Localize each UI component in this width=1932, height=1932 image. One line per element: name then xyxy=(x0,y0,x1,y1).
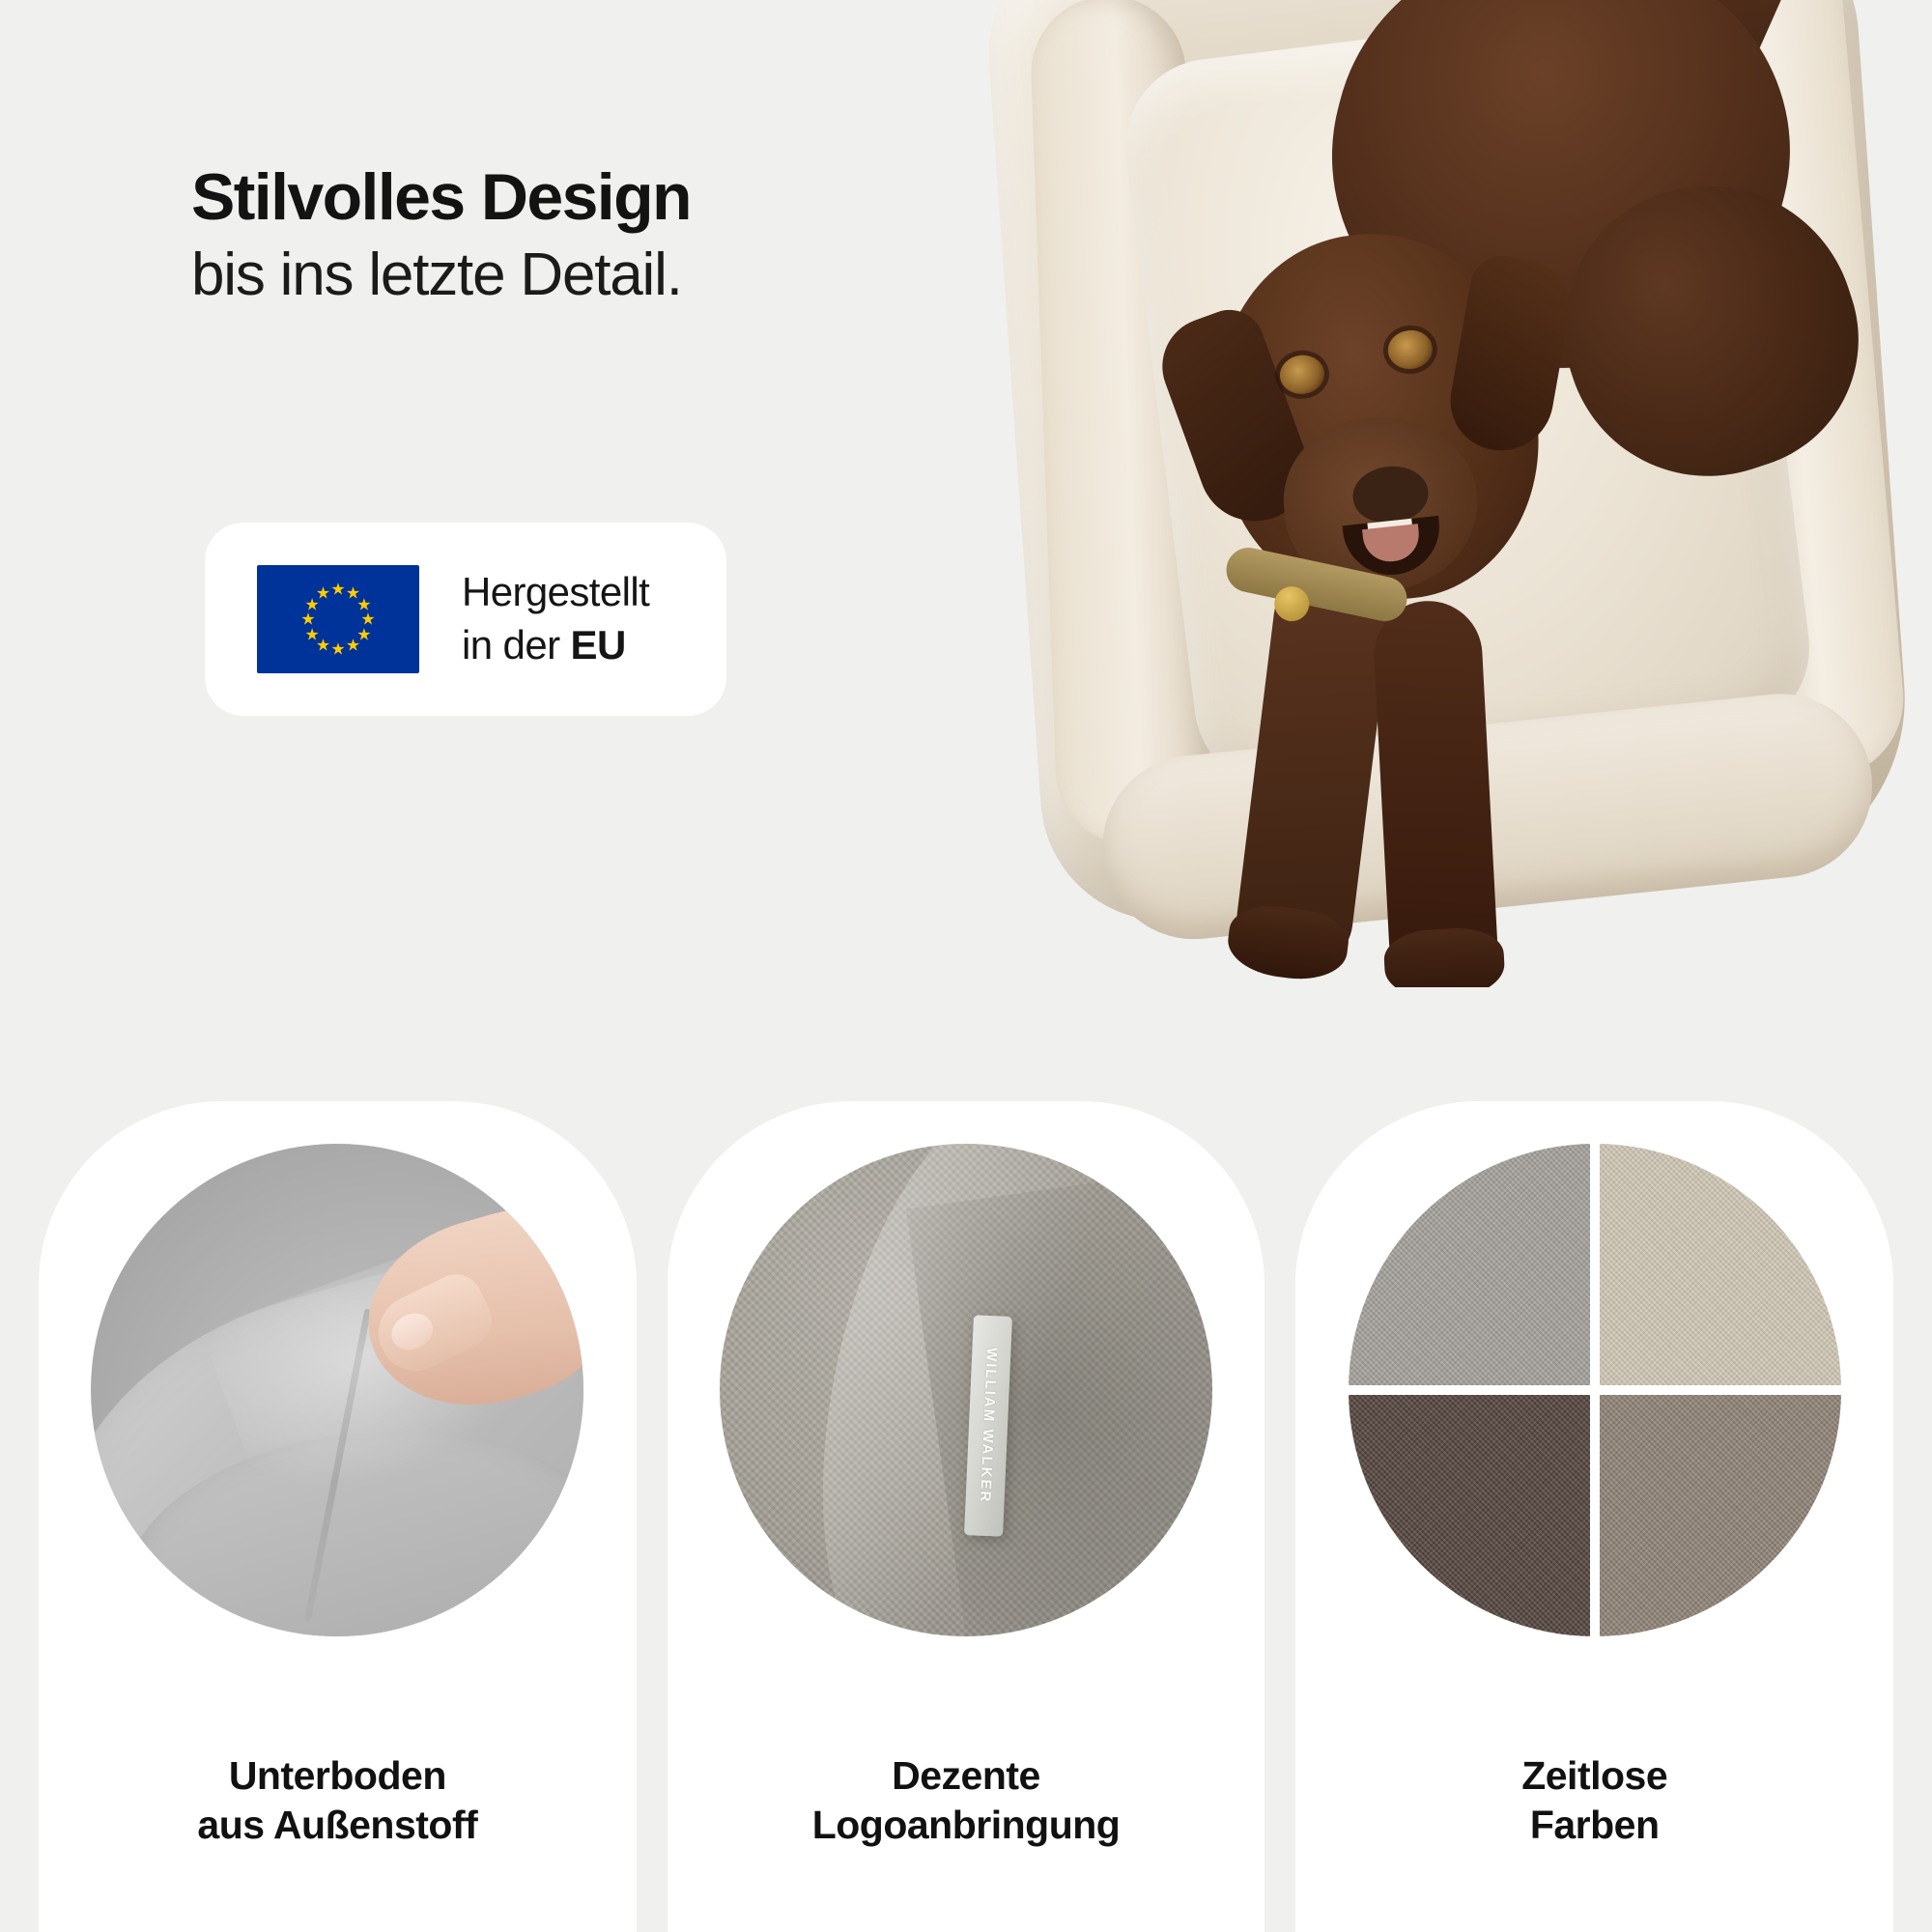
headline-block: Stilvolles Design bis ins letzte Detail. xyxy=(191,162,925,310)
card-caption: Zeitlose Farben xyxy=(1295,1751,1893,1851)
eu-flag-icon: ★★★★★★★★★★★★ xyxy=(257,565,419,673)
dog-eye-right xyxy=(1386,328,1435,372)
eu-star-icon: ★ xyxy=(300,611,315,628)
card-caption-line-1: Zeitlose xyxy=(1295,1751,1893,1802)
dog-in-bed-photo xyxy=(966,0,1932,987)
card-caption: Dezente Logoanbringung xyxy=(668,1751,1265,1851)
eu-star-icon: ★ xyxy=(305,626,320,642)
dog-front-leg-left xyxy=(1232,556,1396,973)
dog-eye-left xyxy=(1278,354,1326,397)
badge-line-2-bold: EU xyxy=(571,622,626,668)
feature-card-logo[interactable]: WILLIAM WALKER Dezente Logoanbringung xyxy=(668,1101,1265,1932)
badge-line-2: in der EU xyxy=(462,619,649,672)
swatch-light-grey xyxy=(1349,1144,1590,1385)
eu-star-icon: ★ xyxy=(346,637,360,653)
dog-ear-right xyxy=(1442,251,1577,459)
fleece-fabric xyxy=(91,1144,583,1636)
dog-tongue xyxy=(1362,524,1421,564)
feature-card-colors[interactable]: Zeitlose Farben xyxy=(1295,1101,1893,1932)
badge-line-2-prefix: in der xyxy=(462,622,571,668)
card-caption-line-1: Dezente xyxy=(668,1751,1265,1802)
card-caption-line-2: Logoanbringung xyxy=(668,1801,1265,1851)
eu-star-icon: ★ xyxy=(330,582,345,598)
dog-paw-right xyxy=(1382,926,1506,987)
page-subtitle: bis ins letzte Detail. xyxy=(191,240,925,310)
swatch-dark-brown xyxy=(1349,1395,1590,1636)
made-in-eu-label: Hergestellt in der EU xyxy=(462,566,649,671)
badge-line-1: Hergestellt xyxy=(462,566,649,619)
page-title: Stilvolles Design xyxy=(191,162,925,232)
finger xyxy=(366,1265,501,1383)
card-caption: Unterboden aus Außenstoff xyxy=(39,1751,637,1851)
fleece-underside-photo xyxy=(91,1144,583,1636)
swatch-sand-beige xyxy=(1600,1144,1841,1385)
feature-card-underside[interactable]: Unterboden aus Außenstoff xyxy=(39,1101,637,1932)
card-caption-line-1: Unterboden xyxy=(39,1751,637,1802)
logo-label-photo: WILLIAM WALKER xyxy=(720,1144,1212,1636)
card-caption-line-2: aus Außenstoff xyxy=(39,1801,637,1851)
made-in-eu-badge: ★★★★★★★★★★★★ Hergestellt in der EU xyxy=(205,523,726,716)
dog-paw-left xyxy=(1224,901,1351,985)
woven-fabric: WILLIAM WALKER xyxy=(720,1144,1212,1636)
eu-star-icon: ★ xyxy=(316,585,330,602)
labrador-dog xyxy=(966,0,1932,987)
swatch-taupe xyxy=(1600,1395,1841,1636)
dog-front-leg-right xyxy=(1372,598,1500,987)
eu-star-icon: ★ xyxy=(330,641,345,658)
hero-section: Stilvolles Design bis ins letzte Detail.… xyxy=(0,0,1932,1082)
card-caption-line-2: Farben xyxy=(1295,1801,1893,1851)
brand-label-text: WILLIAM WALKER xyxy=(977,1348,1000,1504)
feature-cards: Unterboden aus Außenstoff WILLIAM WALKER… xyxy=(0,1101,1932,1932)
colour-quadrants xyxy=(1349,1144,1841,1636)
colour-swatches-photo xyxy=(1349,1144,1841,1636)
fingernail xyxy=(385,1307,439,1357)
